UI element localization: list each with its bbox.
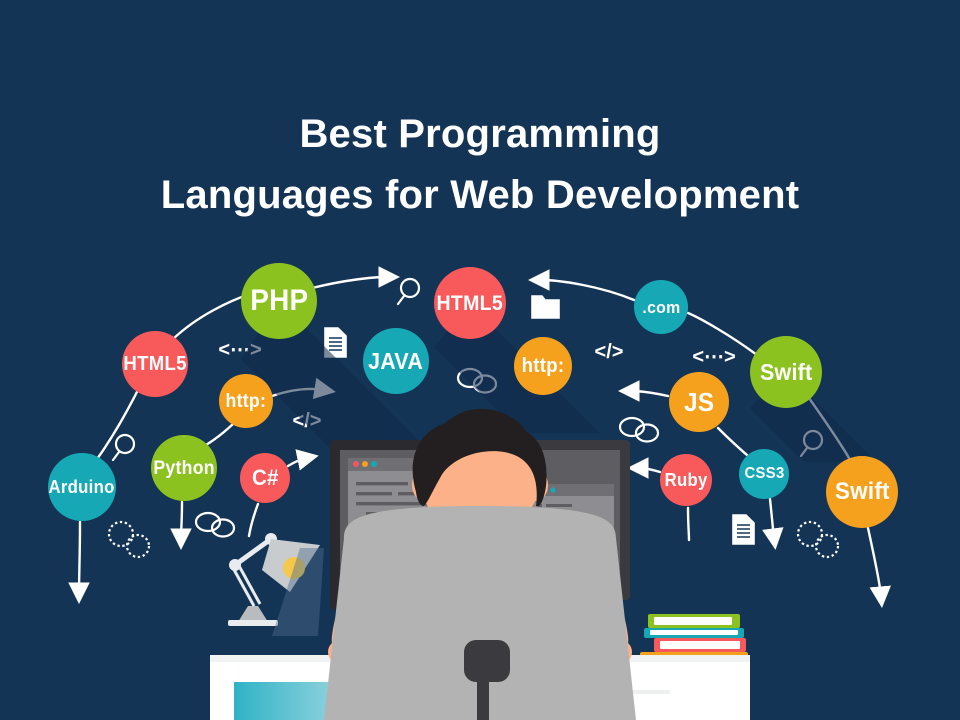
bubble-label: C# — [252, 467, 279, 489]
book-teal — [644, 628, 744, 638]
office-chair — [324, 506, 636, 720]
bubble-label: PHP — [250, 286, 308, 316]
bubble-label: Swift — [760, 361, 813, 384]
bubble-label: HTML5 — [123, 354, 186, 374]
desk-lamp — [228, 533, 324, 636]
bubble-label: HTML5 — [437, 293, 503, 314]
language-bubble-python[interactable]: Python — [151, 435, 217, 501]
bubble-label: Python — [153, 459, 215, 478]
bubble-label: .com — [642, 299, 680, 316]
bubble-label: CSS3 — [744, 466, 784, 482]
book-green — [648, 614, 740, 628]
bubble-label: Ruby — [665, 471, 708, 489]
language-bubble-java[interactable]: JAVA — [363, 328, 429, 394]
bubble-label: Swift — [835, 480, 890, 504]
language-bubble-css3[interactable]: CSS3 — [739, 449, 789, 499]
language-bubble-swift[interactable]: Swift — [750, 336, 822, 408]
language-bubble-html5[interactable]: HTML5 — [434, 267, 506, 339]
language-bubble-c[interactable]: C# — [240, 453, 290, 503]
language-bubble-arduino[interactable]: Arduino — [48, 453, 116, 521]
language-bubble-swift[interactable]: Swift — [826, 456, 898, 528]
language-bubble-http[interactable]: http: — [219, 374, 273, 428]
bubble-label: JAVA — [368, 350, 423, 373]
infographic-canvas: Best Programming Languages for Web Devel… — [0, 0, 960, 720]
language-bubble-com[interactable]: .com — [634, 280, 688, 334]
language-bubble-php[interactable]: PHP — [241, 263, 317, 339]
language-bubble-ruby[interactable]: Ruby — [660, 454, 712, 506]
language-bubble-js[interactable]: JS — [669, 372, 729, 432]
language-bubble-html5[interactable]: HTML5 — [122, 331, 188, 397]
language-bubble-http[interactable]: http: — [514, 337, 572, 395]
bubble-label: http: — [522, 356, 565, 376]
bubble-label: http: — [226, 392, 267, 411]
bubble-label: Arduino — [49, 478, 115, 496]
book-red — [654, 638, 746, 652]
bubble-label: JS — [684, 389, 714, 415]
